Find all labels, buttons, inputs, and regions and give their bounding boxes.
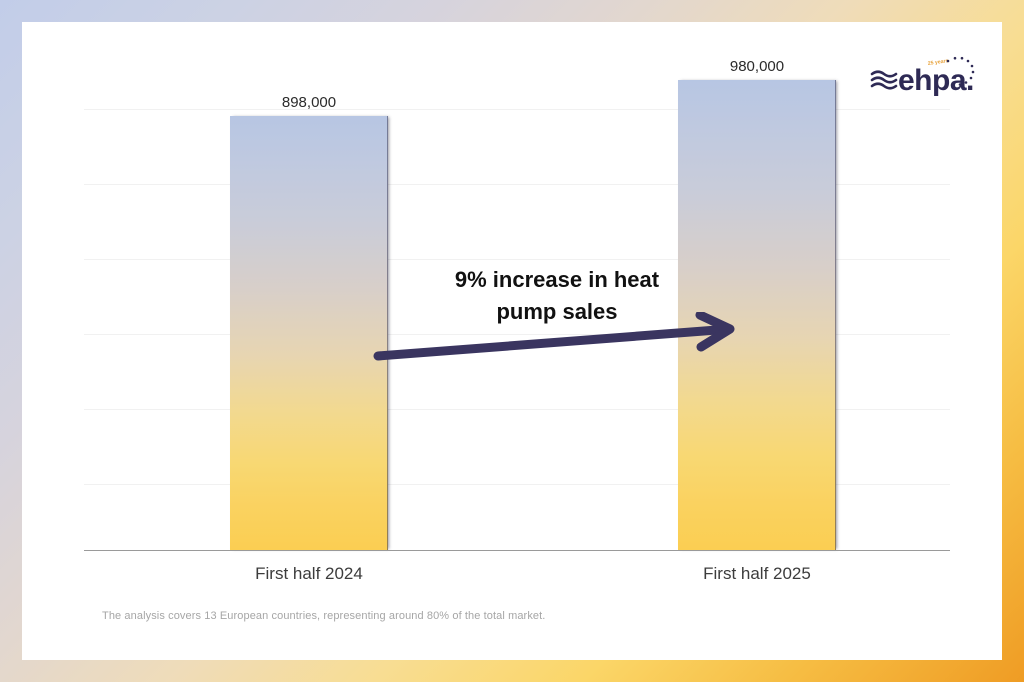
x-axis-label-2024: First half 2024 bbox=[220, 564, 398, 584]
x-axis-label-2025: First half 2025 bbox=[668, 564, 846, 584]
bar-value-label-2025: 980,000 bbox=[678, 58, 836, 75]
bar-value-label-2024: 898,000 bbox=[230, 94, 388, 111]
arrow-shaft bbox=[378, 330, 717, 356]
growth-arrow-icon bbox=[362, 312, 752, 367]
x-axis-line bbox=[84, 550, 950, 551]
slide-frame: ehpa. 25 years bbox=[0, 0, 1024, 682]
slide-card: ehpa. 25 years bbox=[22, 22, 1002, 660]
footnote-text: The analysis covers 13 European countrie… bbox=[102, 610, 545, 622]
annotation-line-1: 9% increase in heat bbox=[412, 264, 702, 296]
